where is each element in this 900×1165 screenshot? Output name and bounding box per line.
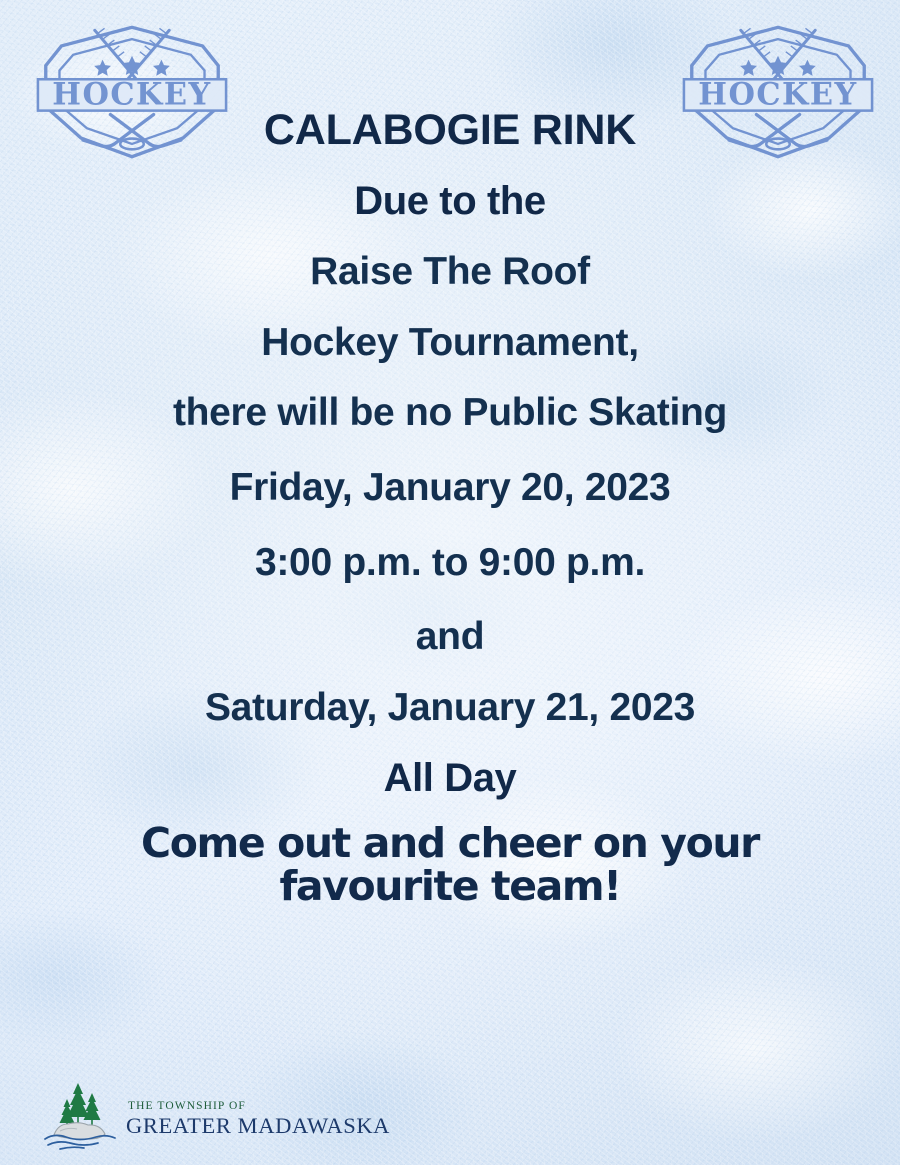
spacer (0, 222, 900, 252)
body-line-saturday-date: Saturday, January 21, 2023 (0, 688, 900, 729)
spacer (0, 728, 900, 758)
spacer (0, 434, 900, 468)
spacer (0, 363, 900, 393)
page-title: CALABOGIE RINK (0, 108, 900, 159)
body-line-and: and (0, 617, 900, 658)
call-to-action-text: Come out and cheer on your favourite tea… (0, 822, 900, 909)
body-line-friday-time: 3:00 p.m. to 9:00 p.m. (0, 543, 900, 584)
pine-tree-island-icon (44, 1079, 118, 1151)
township-wordmark: THE TOWNSHIP OF GREATER MADAWASKA (126, 1101, 390, 1151)
body-line-friday-date: Friday, January 20, 2023 (0, 468, 900, 509)
body-line-hockey-tournament: Hockey Tournament, (0, 323, 900, 364)
spacer (0, 583, 900, 617)
body-line-due-to-the: Due to the (0, 181, 900, 223)
township-logo: THE TOWNSHIP OF GREATER MADAWASKA (44, 1079, 390, 1151)
poster-content: CALABOGIE RINK Due to the Raise The Roof… (0, 108, 900, 909)
spacer (0, 159, 900, 181)
spacer (0, 509, 900, 543)
spacer (0, 658, 900, 688)
body-line-no-public-skating: there will be no Public Skating (0, 393, 900, 434)
township-name: GREATER MADAWASKA (126, 1115, 390, 1138)
township-superline: THE TOWNSHIP OF (128, 1101, 246, 1113)
spacer (0, 293, 900, 323)
body-line-raise-the-roof: Raise The Roof (0, 252, 900, 293)
poster-canvas: HOCKEY (0, 0, 900, 1165)
body-line-all-day: All Day (0, 758, 900, 800)
